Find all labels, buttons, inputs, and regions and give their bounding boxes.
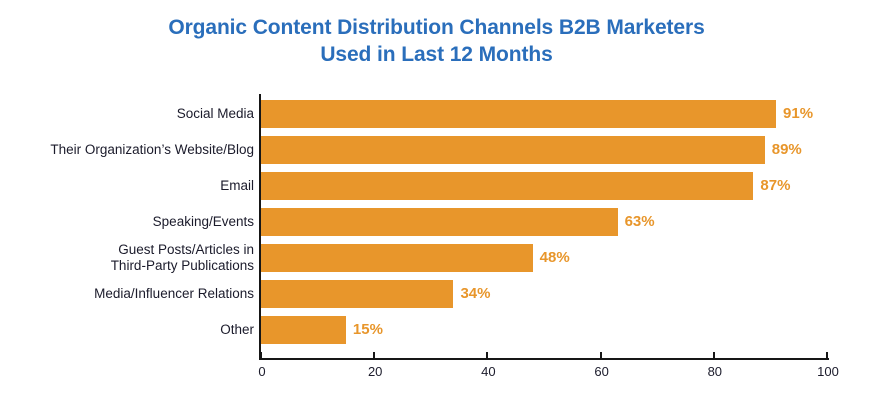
- x-axis-tick: [486, 352, 488, 359]
- plot-area: Social Media91%Their Organization’s Webs…: [0, 0, 873, 406]
- x-axis-tick: [713, 352, 715, 359]
- x-axis-ticks: 020406080100: [0, 0, 873, 406]
- x-axis-tick-label: 0: [232, 364, 292, 380]
- x-axis-tick-label: 60: [572, 364, 632, 380]
- x-axis-tick: [600, 352, 602, 359]
- x-axis-tick: [260, 352, 262, 359]
- x-axis-tick: [373, 352, 375, 359]
- x-axis-tick: [826, 352, 828, 359]
- x-axis-tick-label: 40: [458, 364, 518, 380]
- x-axis-tick-label: 80: [685, 364, 745, 380]
- x-axis-tick-label: 20: [345, 364, 405, 380]
- x-axis-tick-label: 100: [798, 364, 858, 380]
- chart-container: Organic Content Distribution Channels B2…: [0, 0, 873, 406]
